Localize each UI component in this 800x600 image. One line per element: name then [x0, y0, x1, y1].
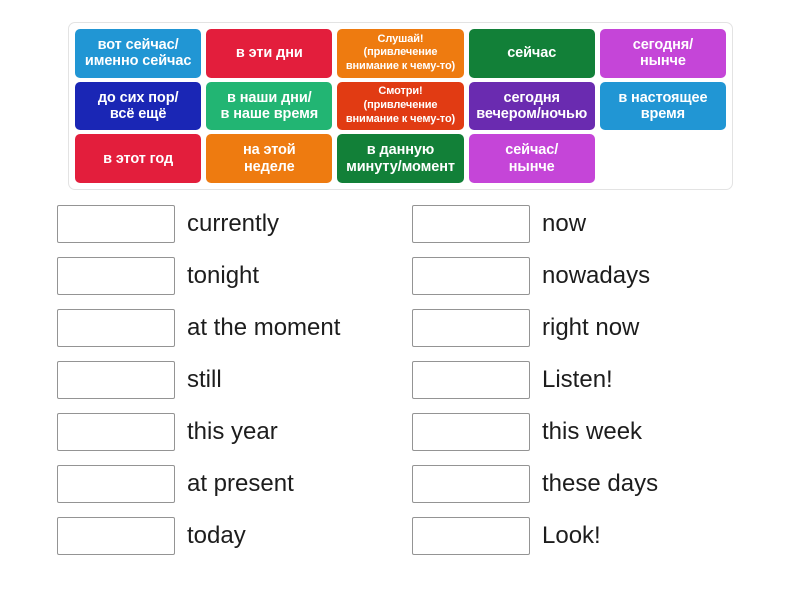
word-tile[interactable]: в наши дни/ в наше время [206, 82, 332, 131]
drop-box[interactable] [57, 257, 175, 295]
answer-row: currently [57, 198, 412, 250]
drop-box[interactable] [412, 257, 530, 295]
answer-row: now [412, 198, 767, 250]
answer-label: tonight [187, 263, 259, 289]
answer-row: this year [57, 406, 412, 458]
answer-label: still [187, 367, 222, 393]
answer-row: still [57, 354, 412, 406]
answer-row: tonight [57, 250, 412, 302]
answer-row: Listen! [412, 354, 767, 406]
answer-row: nowadays [412, 250, 767, 302]
drop-box[interactable] [412, 205, 530, 243]
answer-label: at the moment [187, 315, 340, 341]
answer-label: today [187, 523, 246, 549]
drop-box[interactable] [412, 465, 530, 503]
answer-label: Look! [542, 523, 601, 549]
drop-box[interactable] [412, 361, 530, 399]
word-tile[interactable]: сейчас/ нынче [469, 134, 595, 183]
word-tile[interactable]: до сих пор/ всё ещё [75, 82, 201, 131]
answer-row: this week [412, 406, 767, 458]
drop-box[interactable] [57, 361, 175, 399]
word-tile[interactable]: в настоящее время [600, 82, 726, 131]
drop-box[interactable] [412, 309, 530, 347]
drop-box[interactable] [57, 413, 175, 451]
answer-label: right now [542, 315, 639, 341]
answer-row: today [57, 510, 412, 562]
word-tile[interactable]: в этот год [75, 134, 201, 183]
word-tile[interactable]: сегодня вечером/ночью [469, 82, 595, 131]
drop-box[interactable] [57, 517, 175, 555]
word-tile[interactable]: вот сейчас/ именно сейчас [75, 29, 201, 78]
word-tile[interactable]: Слушай! (привлечение внимание к чему-то) [337, 29, 463, 78]
answer-label: this week [542, 419, 642, 445]
tile-grid: вот сейчас/ именно сейчас в эти дни Слуш… [75, 29, 726, 183]
word-tile-bank: вот сейчас/ именно сейчас в эти дни Слуш… [68, 22, 733, 190]
word-tile[interactable]: Смотри! (привлечение внимание к чему-то) [337, 82, 463, 131]
answer-row: Look! [412, 510, 767, 562]
answer-label: these days [542, 471, 658, 497]
answer-row: at the moment [57, 302, 412, 354]
answer-area: currently tonight at the moment still th… [0, 198, 800, 578]
answer-label: this year [187, 419, 278, 445]
answer-row: right now [412, 302, 767, 354]
answer-label: nowadays [542, 263, 650, 289]
answer-label: now [542, 211, 586, 237]
drop-box[interactable] [412, 413, 530, 451]
drop-box[interactable] [57, 465, 175, 503]
drop-box[interactable] [412, 517, 530, 555]
answer-column-right: now nowadays right now Listen! this week… [412, 198, 767, 562]
answer-row: at present [57, 458, 412, 510]
answer-label: currently [187, 211, 279, 237]
answer-row: these days [412, 458, 767, 510]
answer-label: at present [187, 471, 294, 497]
drop-box[interactable] [57, 309, 175, 347]
answer-column-left: currently tonight at the moment still th… [57, 198, 412, 562]
word-tile[interactable]: в данную минуту/момент [337, 134, 463, 183]
word-tile[interactable]: на этой неделе [206, 134, 332, 183]
answer-label: Listen! [542, 367, 613, 393]
word-tile[interactable]: в эти дни [206, 29, 332, 78]
tile-slot-empty [600, 134, 726, 183]
word-tile[interactable]: сегодня/ нынче [600, 29, 726, 78]
drop-box[interactable] [57, 205, 175, 243]
word-tile[interactable]: сейчас [469, 29, 595, 78]
